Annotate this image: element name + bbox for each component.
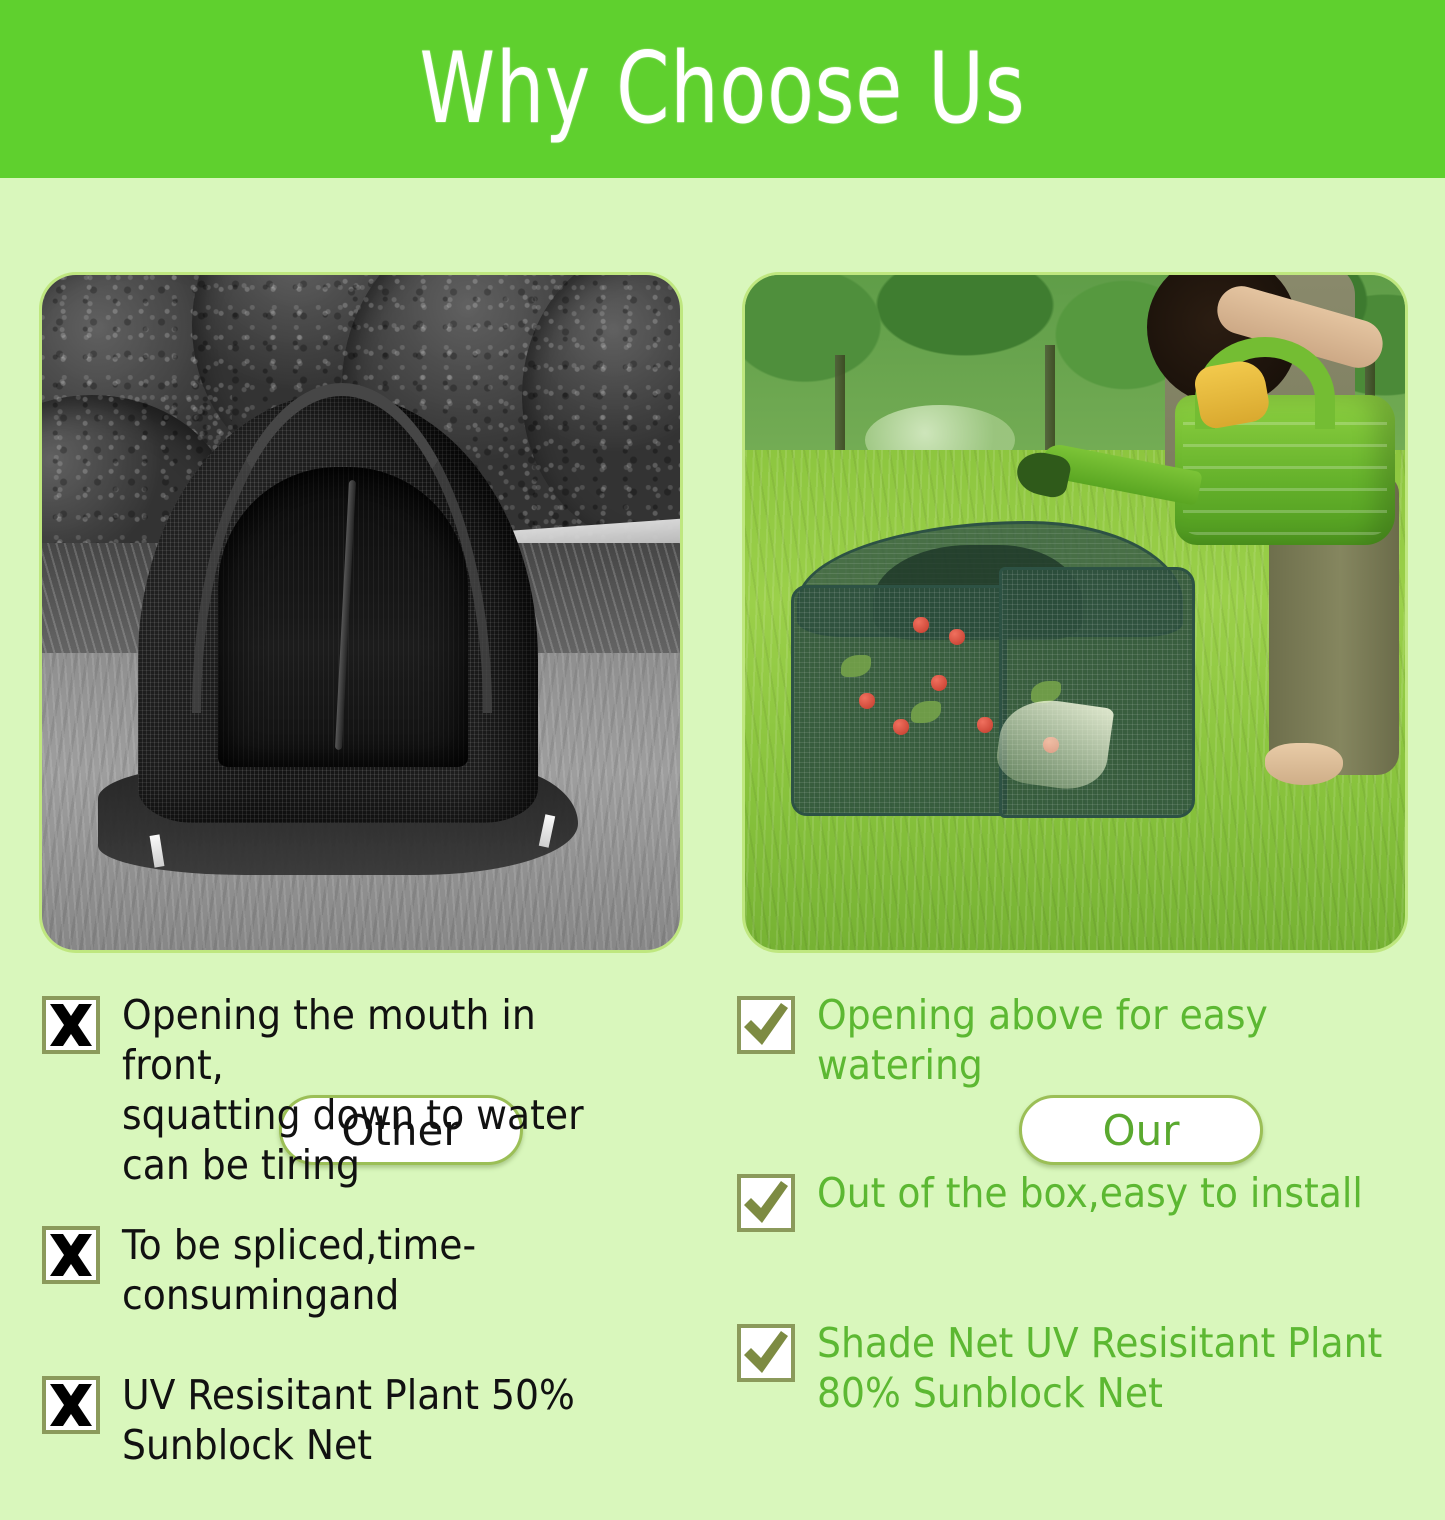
strawberry: [977, 717, 993, 733]
strawberry: [859, 693, 875, 709]
our-product-photo: [745, 275, 1405, 950]
check-mark-icon: [737, 996, 795, 1054]
cage-front-panel: [791, 585, 1007, 816]
feature-text: Opening above for easy watering: [817, 990, 1395, 1090]
x-mark-icon: [42, 1376, 100, 1434]
list-item: Shade Net UV Resisitant Plant 80% Sunblo…: [737, 1318, 1445, 1438]
list-item: Opening above for easy watering: [737, 990, 1445, 1138]
our-photo-scene: [745, 275, 1405, 950]
strawberry: [949, 629, 965, 645]
list-item: Opening the mouth in front, squatting do…: [42, 990, 695, 1190]
x-mark-icon: [42, 1226, 100, 1284]
list-item: Out of the box,easy to install: [737, 1168, 1445, 1288]
check-mark-icon: [737, 1174, 795, 1232]
feature-text: Shade Net UV Resisitant Plant 80% Sunblo…: [817, 1318, 1382, 1418]
list-item: To be spliced,time-consumingand: [42, 1220, 695, 1340]
other-product-photo: [42, 275, 680, 950]
other-feature-list: Opening the mouth in front, squatting do…: [0, 990, 695, 1520]
check-mark-icon: [737, 1324, 795, 1382]
strawberry: [893, 719, 909, 735]
feature-text: UV Resisitant Plant 50% Sunblock Net: [122, 1370, 575, 1470]
hedge-shape: [522, 275, 680, 545]
feature-text: To be spliced,time-consumingand: [122, 1220, 649, 1320]
strawberry: [913, 617, 929, 633]
list-item: UV Resisitant Plant 50% Sunblock Net: [42, 1370, 695, 1490]
page-title: Why Choose Us: [420, 40, 1026, 138]
feature-text: Out of the box,easy to install: [817, 1168, 1363, 1218]
our-feature-list: Opening above for easy watering Out of t…: [695, 990, 1445, 1520]
strawberry: [931, 675, 947, 691]
header-banner: Why Choose Us: [0, 0, 1445, 178]
mesh-plant-cage: [781, 505, 1201, 825]
person-foot: [1265, 743, 1343, 785]
feature-columns: Opening the mouth in front, squatting do…: [0, 990, 1445, 1520]
x-mark-icon: [42, 996, 100, 1054]
feature-text: Opening the mouth in front, squatting do…: [122, 990, 649, 1190]
comparison-photos: [0, 178, 1445, 978]
other-photo-scene: [42, 275, 680, 950]
tree-trunk: [1045, 345, 1055, 455]
